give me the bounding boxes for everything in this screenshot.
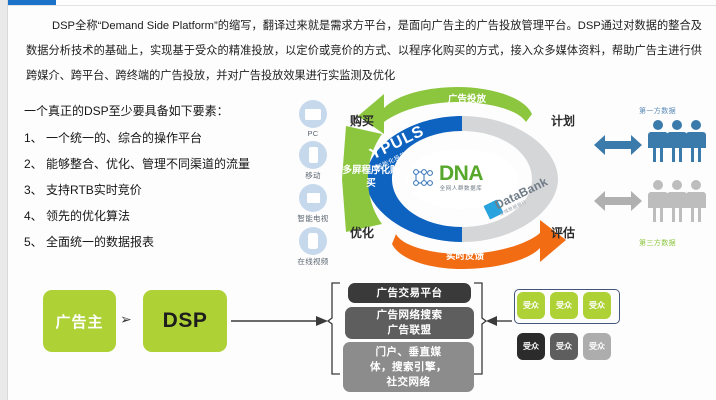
list-item-number: 1、: [24, 125, 46, 151]
device-item-mobile: 移动: [288, 141, 338, 181]
list-item-label: 全面统一的数据报表: [46, 235, 154, 249]
channel-box-portal-line3: 社交网络: [370, 375, 447, 390]
bidirectional-arrow-gray-icon: [594, 190, 642, 212]
device-item-smart-tv: 智能电视: [288, 184, 338, 224]
audience-box[interactable]: 受众: [517, 333, 545, 360]
list-item-number: 2、: [24, 151, 46, 177]
smart-tv-icon: [299, 184, 327, 212]
device-label: PC: [288, 129, 338, 138]
channel-box-exchange-label: 广告交易平台: [377, 286, 443, 301]
list-item-label: 领先的优化算法: [46, 209, 130, 223]
audience-box[interactable]: 受众: [550, 292, 578, 319]
channel-box-network[interactable]: 广告网络搜索 广告联盟: [345, 307, 474, 339]
top-divider: [8, 5, 716, 6]
dsp-label: DSP: [163, 309, 208, 333]
dsp-box[interactable]: DSP: [143, 290, 227, 352]
advertiser-to-dsp-chevron-icon: ➢: [120, 311, 132, 328]
audience-box[interactable]: 受众: [517, 292, 545, 319]
channels-left-brace: [328, 283, 340, 374]
list-item: 2、能够整合、优化、管理不同渠道的流量: [24, 151, 286, 177]
list-item-number: 4、: [24, 203, 46, 229]
arrow-label-ad-delivery: 广告投放: [448, 91, 486, 105]
mobile-phone-icon: [299, 141, 327, 169]
channel-box-network-line1: 广告网络搜索: [377, 308, 443, 323]
intro-paragraph: DSP全称“Demand Side Platform”的缩写，翻译过来就是需求方…: [26, 14, 702, 89]
people-group-gray-icon: [648, 178, 706, 224]
channels-right-brace: [474, 283, 486, 374]
requirements-heading: 一个真正的DSP至少要具备如下要素：: [24, 100, 286, 122]
brand-dna-sub: 全网人群数据库: [439, 184, 483, 192]
audience-box[interactable]: 受众: [583, 333, 611, 360]
cycle-label-buy: 购买: [350, 112, 374, 129]
list-item: 3、支持RTB实时竞价: [24, 177, 286, 203]
data-parties-group: 第一方数据 第三方数据: [594, 106, 712, 252]
list-item: 4、领先的优化算法: [24, 203, 286, 229]
advertiser-box[interactable]: 广告主: [43, 290, 116, 352]
cycle-label-optimize: 优化: [350, 224, 374, 241]
requirements-list: 一个真正的DSP至少要具备如下要素： 1、一个统一的、综合的操作平台 2、能够整…: [24, 100, 286, 255]
dsp-to-channels-arrowhead: [316, 316, 328, 326]
bidirectional-arrow-blue-icon: [594, 134, 642, 156]
list-item-label: 一个统一的、综合的操作平台: [46, 131, 202, 145]
third-party-label: 第三方数据: [639, 238, 676, 248]
wedge-label-multiscreen: 多屏程序化购买: [342, 164, 400, 190]
channel-box-portal-line2: 体，搜索引擎，: [370, 360, 447, 375]
channel-box-portal[interactable]: 门户、垂直媒 体，搜索引擎， 社交网络: [343, 342, 474, 392]
list-item-label: 支持RTB实时竞价: [46, 183, 142, 197]
cycle-label-evaluate: 评估: [551, 224, 575, 241]
audience-to-channels-arrowhead: [486, 316, 497, 326]
device-label: 智能电视: [288, 213, 338, 224]
list-item-label: 能够整合、优化、管理不同渠道的流量: [46, 157, 250, 171]
cycle-label-plan: 计划: [551, 112, 575, 129]
people-group-blue-icon: [648, 118, 706, 164]
device-channel-column: PC 移动 智能电视 在线视频: [288, 100, 338, 270]
channel-box-exchange[interactable]: 广告交易平台: [348, 283, 471, 303]
device-item-pc: PC: [288, 100, 338, 138]
channel-box-network-line2: 广告联盟: [377, 323, 443, 338]
programmatic-cycle-diagram: 购买 计划 优化 评估 多屏程序化购买 广告投放 实时反馈 YPULS 智能化投…: [336, 86, 588, 272]
device-label: 移动: [288, 170, 338, 181]
slide-canvas: DSP全称“Demand Side Platform”的缩写，翻译过来就是需求方…: [0, 0, 716, 400]
audience-box[interactable]: 受众: [583, 292, 611, 319]
channel-box-portal-line1: 门户、垂直媒: [370, 345, 447, 360]
desktop-icon: [299, 100, 327, 128]
audience-box[interactable]: 受众: [550, 333, 578, 360]
brand-dna: DNA 全网人群数据库: [410, 158, 518, 198]
list-item: 1、一个统一的、综合的操作平台: [24, 125, 286, 151]
network-nodes-icon: [410, 165, 436, 191]
first-party-label: 第一方数据: [639, 106, 676, 116]
brand-dna-name: DNA: [439, 164, 483, 184]
advertiser-label: 广告主: [55, 311, 103, 332]
list-item-number: 3、: [24, 177, 46, 203]
